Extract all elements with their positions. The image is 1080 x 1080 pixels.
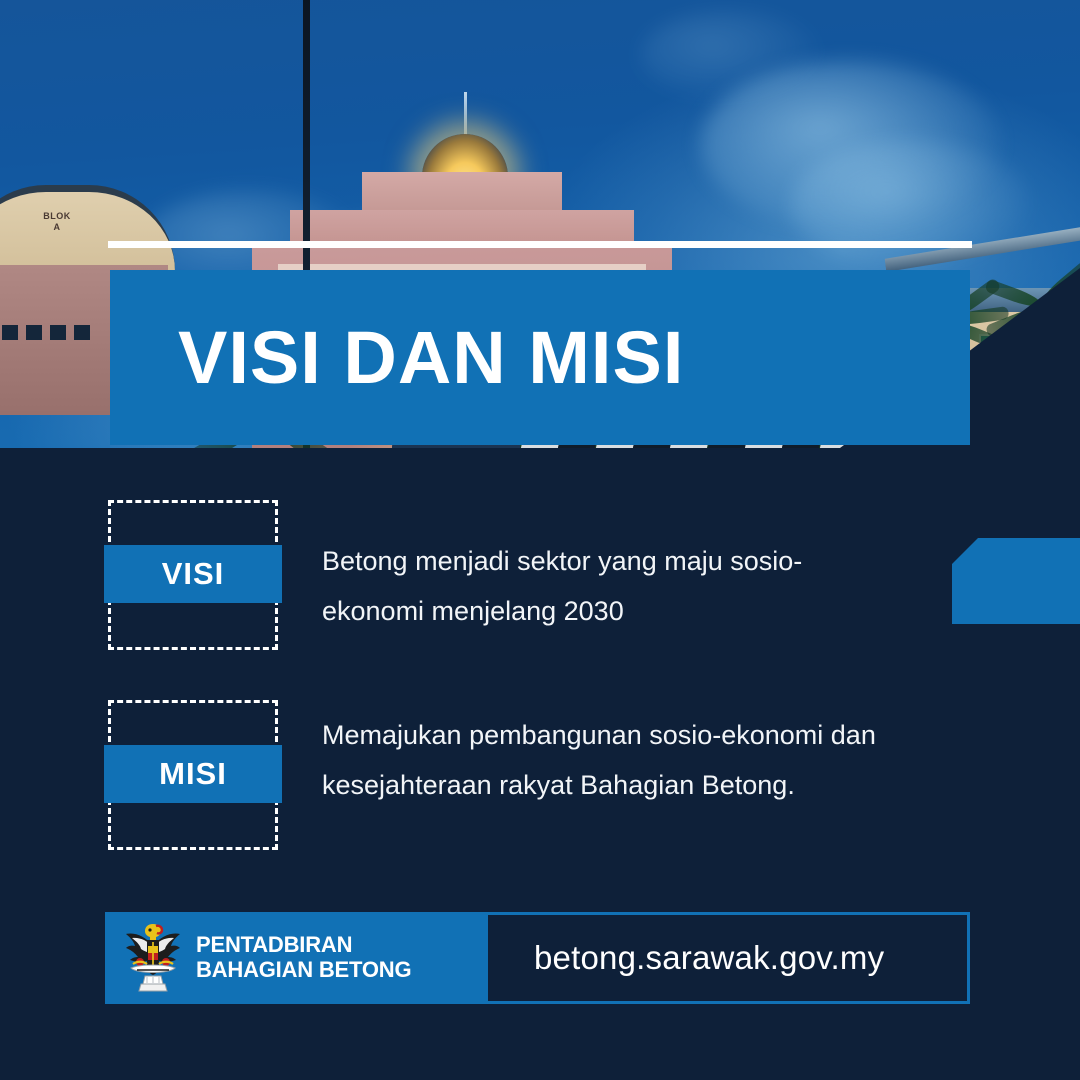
blok-a-signage-line1: BLOK: [22, 211, 92, 222]
footer-brand-text: PENTADBIRAN BAHAGIAN BETONG: [196, 933, 411, 982]
navy-lower-panel: [0, 622, 1080, 1080]
visi-tag-label: VISI: [162, 556, 225, 592]
cloud-shape: [640, 10, 820, 100]
sarawak-coat-of-arms-icon: [123, 920, 183, 996]
footer-bar: PENTADBIRAN BAHAGIAN BETONG betong.saraw…: [105, 912, 970, 1004]
visi-tag-band: VISI: [104, 545, 282, 603]
blok-a-signage-line2: A: [22, 222, 92, 233]
title-underline-rule: [108, 241, 972, 248]
page-title: VISI DAN MISI: [110, 321, 684, 395]
misi-text: Memajukan pembangunan sosio-ekonomi dan …: [322, 700, 882, 810]
spire-icon: [464, 92, 467, 138]
misi-statement: Memajukan pembangunan sosio-ekonomi dan …: [322, 710, 882, 810]
visi-block: VISI Betong menjadi sektor yang maju sos…: [108, 500, 882, 650]
blok-a-signage: BLOK A: [22, 211, 92, 234]
visi-tag: VISI: [108, 500, 278, 650]
footer-url-panel[interactable]: betong.sarawak.gov.my: [488, 915, 967, 1001]
footer-brand: PENTADBIRAN BAHAGIAN BETONG: [108, 915, 488, 1001]
blok-a-windows: [0, 325, 90, 340]
misi-block: MISI Memajukan pembangunan sosio-ekonomi…: [108, 700, 882, 850]
misi-tag-label: MISI: [159, 756, 227, 792]
misi-tag: MISI: [108, 700, 278, 850]
blue-accent-shape: [952, 538, 1080, 624]
visi-text: Betong menjadi sektor yang maju sosio-ek…: [322, 500, 882, 636]
title-banner: VISI DAN MISI: [110, 270, 970, 445]
poster-canvas: BLOK A: [0, 0, 1080, 1080]
website-url[interactable]: betong.sarawak.gov.my: [534, 939, 884, 977]
visi-statement: Betong menjadi sektor yang maju sosio-ek…: [322, 536, 882, 636]
footer-brand-line2: BAHAGIAN BETONG: [196, 958, 411, 983]
footer-brand-line1: PENTADBIRAN: [196, 933, 411, 958]
misi-tag-band: MISI: [104, 745, 282, 803]
